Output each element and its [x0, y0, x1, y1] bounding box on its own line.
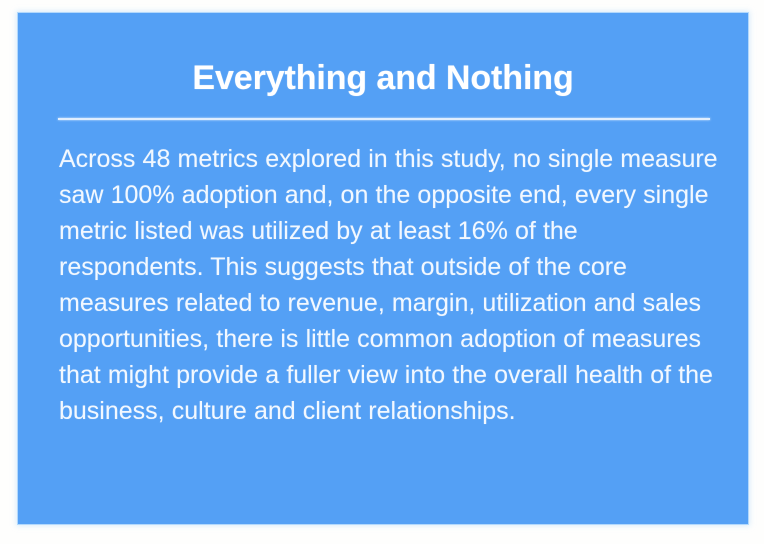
- content-panel: Everything and Nothing Across 48 metrics…: [18, 13, 748, 524]
- title-block: Everything and Nothing: [18, 57, 748, 99]
- title-divider: [58, 118, 710, 120]
- body-block: Across 48 metrics explored in this study…: [59, 141, 719, 429]
- page-title: Everything and Nothing: [192, 57, 573, 99]
- body-paragraph: Across 48 metrics explored in this study…: [59, 141, 719, 429]
- slide-canvas: Everything and Nothing Across 48 metrics…: [0, 0, 764, 544]
